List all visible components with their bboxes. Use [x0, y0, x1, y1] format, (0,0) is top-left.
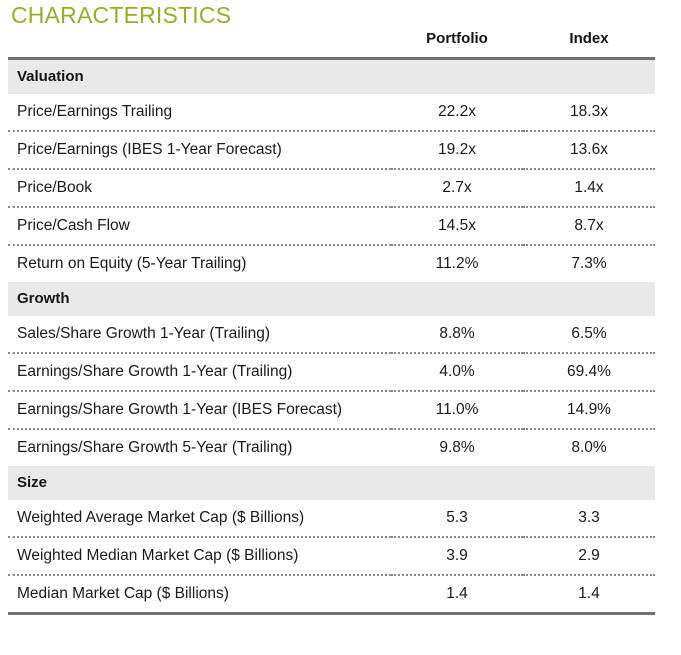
- row-label: Price/Earnings (IBES 1-Year Forecast): [8, 131, 391, 169]
- row-value-index: 7.3%: [523, 245, 655, 282]
- column-header-portfolio: Portfolio: [391, 30, 523, 59]
- row-label: Price/Cash Flow: [8, 207, 391, 245]
- row-value-portfolio: 11.0%: [391, 391, 523, 429]
- table-row: Median Market Cap ($ Billions)1.41.4: [8, 575, 655, 614]
- group-header-spacer-portfolio: [391, 466, 523, 500]
- row-value-portfolio: 4.0%: [391, 353, 523, 391]
- row-value-index: 13.6x: [523, 131, 655, 169]
- row-value-portfolio: 11.2%: [391, 245, 523, 282]
- group-header-label: Growth: [8, 282, 391, 316]
- row-value-portfolio: 9.8%: [391, 429, 523, 466]
- row-value-portfolio: 2.7x: [391, 169, 523, 207]
- row-label: Earnings/Share Growth 5-Year (Trailing): [8, 429, 391, 466]
- row-value-index: 18.3x: [523, 94, 655, 131]
- group-header-label: Size: [8, 466, 391, 500]
- row-value-portfolio: 1.4: [391, 575, 523, 614]
- table-row: Earnings/Share Growth 1-Year (Trailing)4…: [8, 353, 655, 391]
- group-header-row: Size: [8, 466, 655, 500]
- table-row: Earnings/Share Growth 1-Year (IBES Forec…: [8, 391, 655, 429]
- row-value-index: 6.5%: [523, 316, 655, 353]
- characteristics-page: CHARACTERISTICS Portfolio Index Valuatio…: [0, 0, 681, 655]
- row-value-index: 14.9%: [523, 391, 655, 429]
- table-row: Sales/Share Growth 1-Year (Trailing)8.8%…: [8, 316, 655, 353]
- row-value-index: 2.9: [523, 537, 655, 575]
- row-label: Sales/Share Growth 1-Year (Trailing): [8, 316, 391, 353]
- row-label: Earnings/Share Growth 1-Year (IBES Forec…: [8, 391, 391, 429]
- column-header-index: Index: [523, 30, 655, 59]
- group-header-spacer-index: [523, 282, 655, 316]
- row-value-index: 3.3: [523, 500, 655, 537]
- table-row: Price/Earnings (IBES 1-Year Forecast)19.…: [8, 131, 655, 169]
- row-value-portfolio: 8.8%: [391, 316, 523, 353]
- group-header-spacer-portfolio: [391, 282, 523, 316]
- row-value-portfolio: 5.3: [391, 500, 523, 537]
- table-row: Price/Book2.7x1.4x: [8, 169, 655, 207]
- group-header-row: Valuation: [8, 59, 655, 95]
- table-header: Portfolio Index: [8, 30, 655, 59]
- row-label: Weighted Average Market Cap ($ Billions): [8, 500, 391, 537]
- table-row: Return on Equity (5-Year Trailing)11.2%7…: [8, 245, 655, 282]
- column-header-row: Portfolio Index: [8, 30, 655, 59]
- row-label: Return on Equity (5-Year Trailing): [8, 245, 391, 282]
- group-header-row: Growth: [8, 282, 655, 316]
- page-title: CHARACTERISTICS: [11, 0, 231, 30]
- row-label: Price/Book: [8, 169, 391, 207]
- group-header-spacer-index: [523, 59, 655, 95]
- table-row: Price/Earnings Trailing22.2x18.3x: [8, 94, 655, 131]
- row-value-portfolio: 3.9: [391, 537, 523, 575]
- row-value-index: 8.0%: [523, 429, 655, 466]
- group-header-spacer-portfolio: [391, 59, 523, 95]
- row-label: Median Market Cap ($ Billions): [8, 575, 391, 614]
- row-value-portfolio: 14.5x: [391, 207, 523, 245]
- group-header-spacer-index: [523, 466, 655, 500]
- group-header-label: Valuation: [8, 59, 391, 95]
- table-row: Weighted Average Market Cap ($ Billions)…: [8, 500, 655, 537]
- row-value-index: 1.4: [523, 575, 655, 614]
- table-body: ValuationPrice/Earnings Trailing22.2x18.…: [8, 59, 655, 614]
- row-label: Weighted Median Market Cap ($ Billions): [8, 537, 391, 575]
- column-header-label: [8, 30, 391, 59]
- row-value-index: 1.4x: [523, 169, 655, 207]
- table-row: Weighted Median Market Cap ($ Billions)3…: [8, 537, 655, 575]
- row-value-portfolio: 22.2x: [391, 94, 523, 131]
- row-value-portfolio: 19.2x: [391, 131, 523, 169]
- row-value-index: 8.7x: [523, 207, 655, 245]
- table-row: Earnings/Share Growth 5-Year (Trailing)9…: [8, 429, 655, 466]
- table-row: Price/Cash Flow14.5x8.7x: [8, 207, 655, 245]
- row-label: Price/Earnings Trailing: [8, 94, 391, 131]
- row-label: Earnings/Share Growth 1-Year (Trailing): [8, 353, 391, 391]
- row-value-index: 69.4%: [523, 353, 655, 391]
- characteristics-table: Portfolio Index ValuationPrice/Earnings …: [8, 30, 655, 615]
